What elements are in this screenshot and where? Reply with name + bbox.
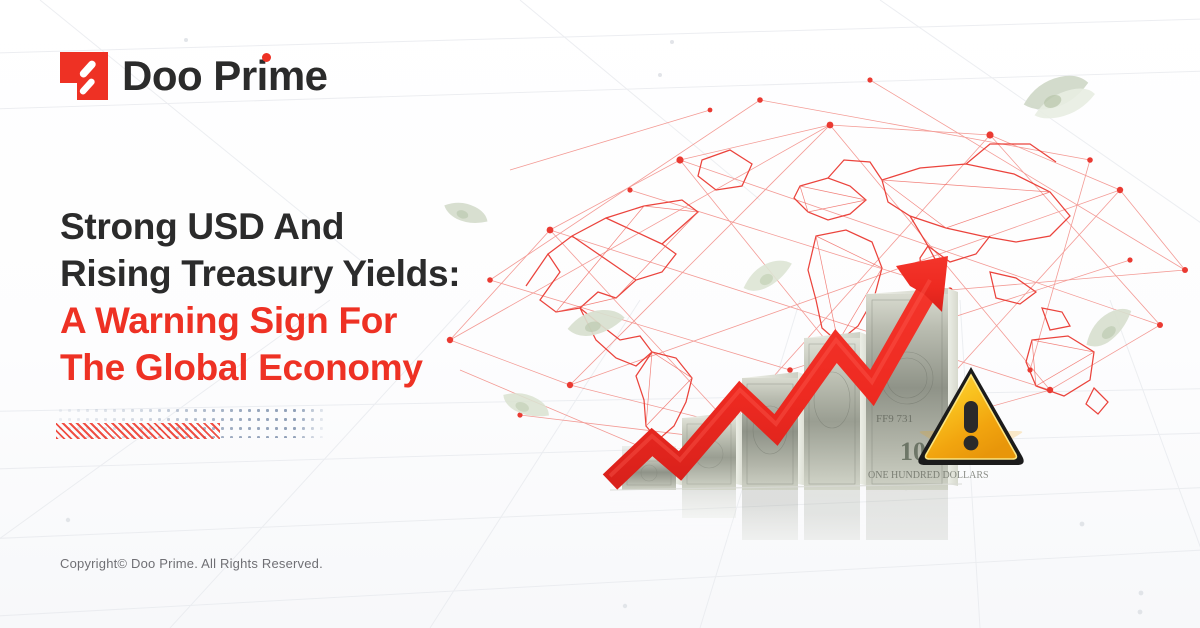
doo-prime-logo-mark-icon [60, 52, 108, 100]
brand-logo[interactable]: Doo Prime [60, 52, 328, 100]
flying-banknote-icon [494, 382, 556, 434]
headline-line-3: A Warning Sign For [60, 297, 460, 344]
svg-text:FF9 731: FF9 731 [876, 413, 913, 425]
brand-name-text: Doo Prime [122, 52, 328, 99]
flying-banknote-icon [1010, 58, 1102, 140]
promo-banner: FF9 731 100 ONE HUNDRED DOLLARS [0, 0, 1200, 628]
headline-line-1: Strong USD And [60, 203, 460, 250]
page-title: Strong USD And Rising Treasury Yields: A… [60, 203, 460, 391]
svg-text:ONE HUNDRED DOLLARS: ONE HUNDRED DOLLARS [868, 470, 989, 481]
brand-wordmark: Doo Prime [122, 55, 328, 97]
headline-line-2: Rising Treasury Yields: [60, 250, 460, 297]
logo-accent-dot [262, 53, 271, 62]
flying-banknote-icon [1076, 300, 1146, 364]
headline-line-4: The Global Economy [60, 344, 460, 391]
warning-triangle-icon [915, 363, 1027, 471]
copyright-text: Copyright© Doo Prime. All Rights Reserve… [60, 556, 323, 571]
